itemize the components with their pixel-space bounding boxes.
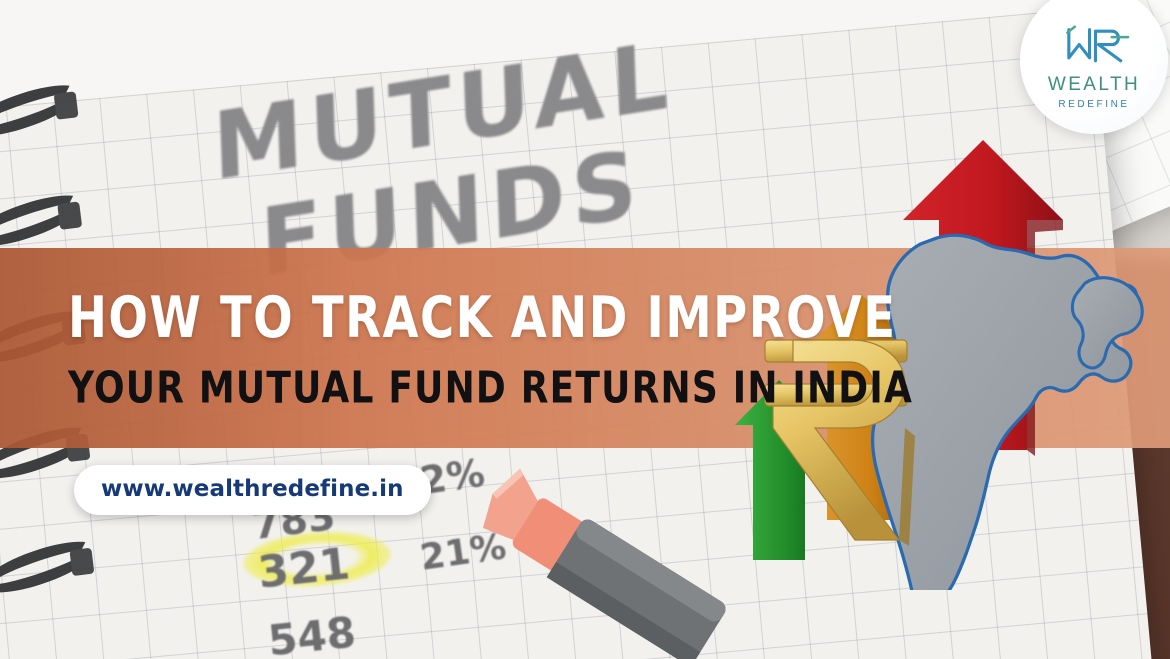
wr-monogram-icon (1057, 25, 1131, 67)
highlighter-pen-icon (455, 448, 755, 659)
logo-tagline: REDEFINE (1058, 99, 1129, 110)
headline-block: HOW TO TRACK AND IMPROVE YOUR MUTUAL FUN… (68, 288, 828, 404)
website-url-badge[interactable]: www.wealthredefine.in (74, 465, 431, 515)
blog-banner: MUTUAL FUNDS 783 321 548 2% 21% (0, 0, 1170, 659)
logo-brand-name: WEALTH (1048, 74, 1140, 96)
handwritten-number-2: 321 (256, 538, 353, 598)
headline-line-1: HOW TO TRACK AND IMPROVE (68, 288, 820, 349)
website-url-text: www.wealthredefine.in (101, 476, 404, 502)
india-map (873, 235, 1143, 590)
handwritten-number-3: 548 (266, 608, 358, 659)
headline-line-2: YOUR MUTUAL FUND RETURNS IN INDIA (68, 366, 828, 412)
